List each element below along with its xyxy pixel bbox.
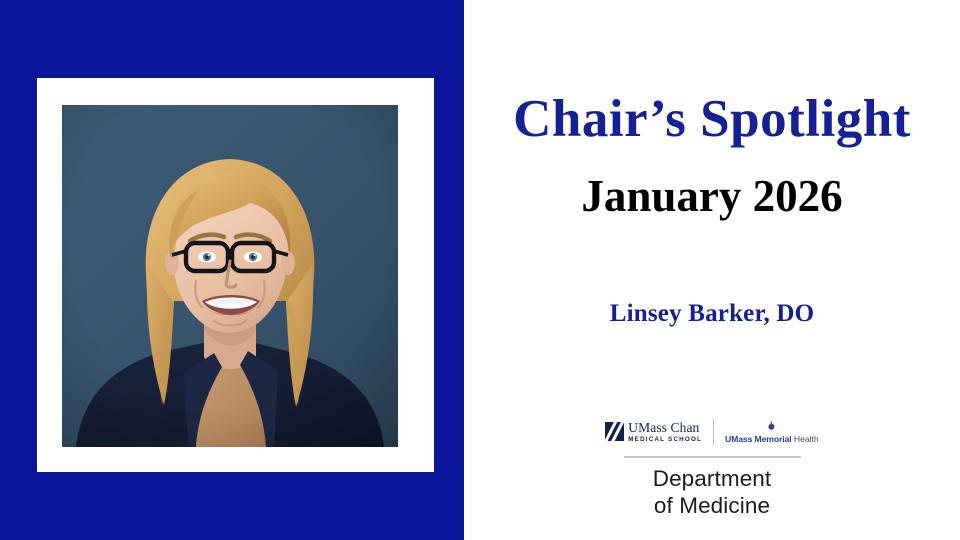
umass-chan-mark-icon	[605, 422, 624, 441]
featured-person-name: Linsey Barker, DO	[464, 300, 960, 328]
department-line-2: of Medicine	[653, 493, 772, 520]
umass-chan-logo: UMass Chan MEDICAL SCHOOL	[605, 421, 702, 443]
umass-chan-tagline: MEDICAL SCHOOL	[628, 437, 702, 443]
umass-memorial-wordmark: UMass Memorial Health	[725, 435, 819, 444]
department-line-1: Department	[653, 466, 772, 493]
logo-row: UMass Chan MEDICAL SCHOOL UMass Memorial…	[605, 418, 818, 446]
portrait-frame	[37, 78, 434, 472]
left-blue-panel	[0, 0, 464, 540]
right-content-panel: Chair’s Spotlight January 2026 Linsey Ba…	[464, 0, 960, 540]
umass-memorial-flame-icon	[765, 420, 778, 433]
logo-lockup: UMass Chan MEDICAL SCHOOL UMass Memorial…	[464, 418, 960, 519]
department-name: Department of Medicine	[653, 466, 772, 519]
umass-memorial-bold-text: UMass Memorial	[725, 434, 791, 444]
logo-divider	[713, 419, 714, 445]
umass-memorial-light-text: Health	[794, 434, 819, 444]
portrait-illustration	[62, 105, 398, 447]
umass-memorial-logo: UMass Memorial Health	[725, 420, 819, 444]
page-subtitle-date: January 2026	[464, 173, 960, 220]
page-title: Chair’s Spotlight	[464, 92, 960, 147]
chairs-spotlight-slide: Chair’s Spotlight January 2026 Linsey Ba…	[0, 0, 960, 540]
portrait-photo	[62, 105, 398, 447]
umass-chan-name: UMass Chan	[628, 421, 702, 435]
logo-separator-rule	[624, 456, 801, 458]
